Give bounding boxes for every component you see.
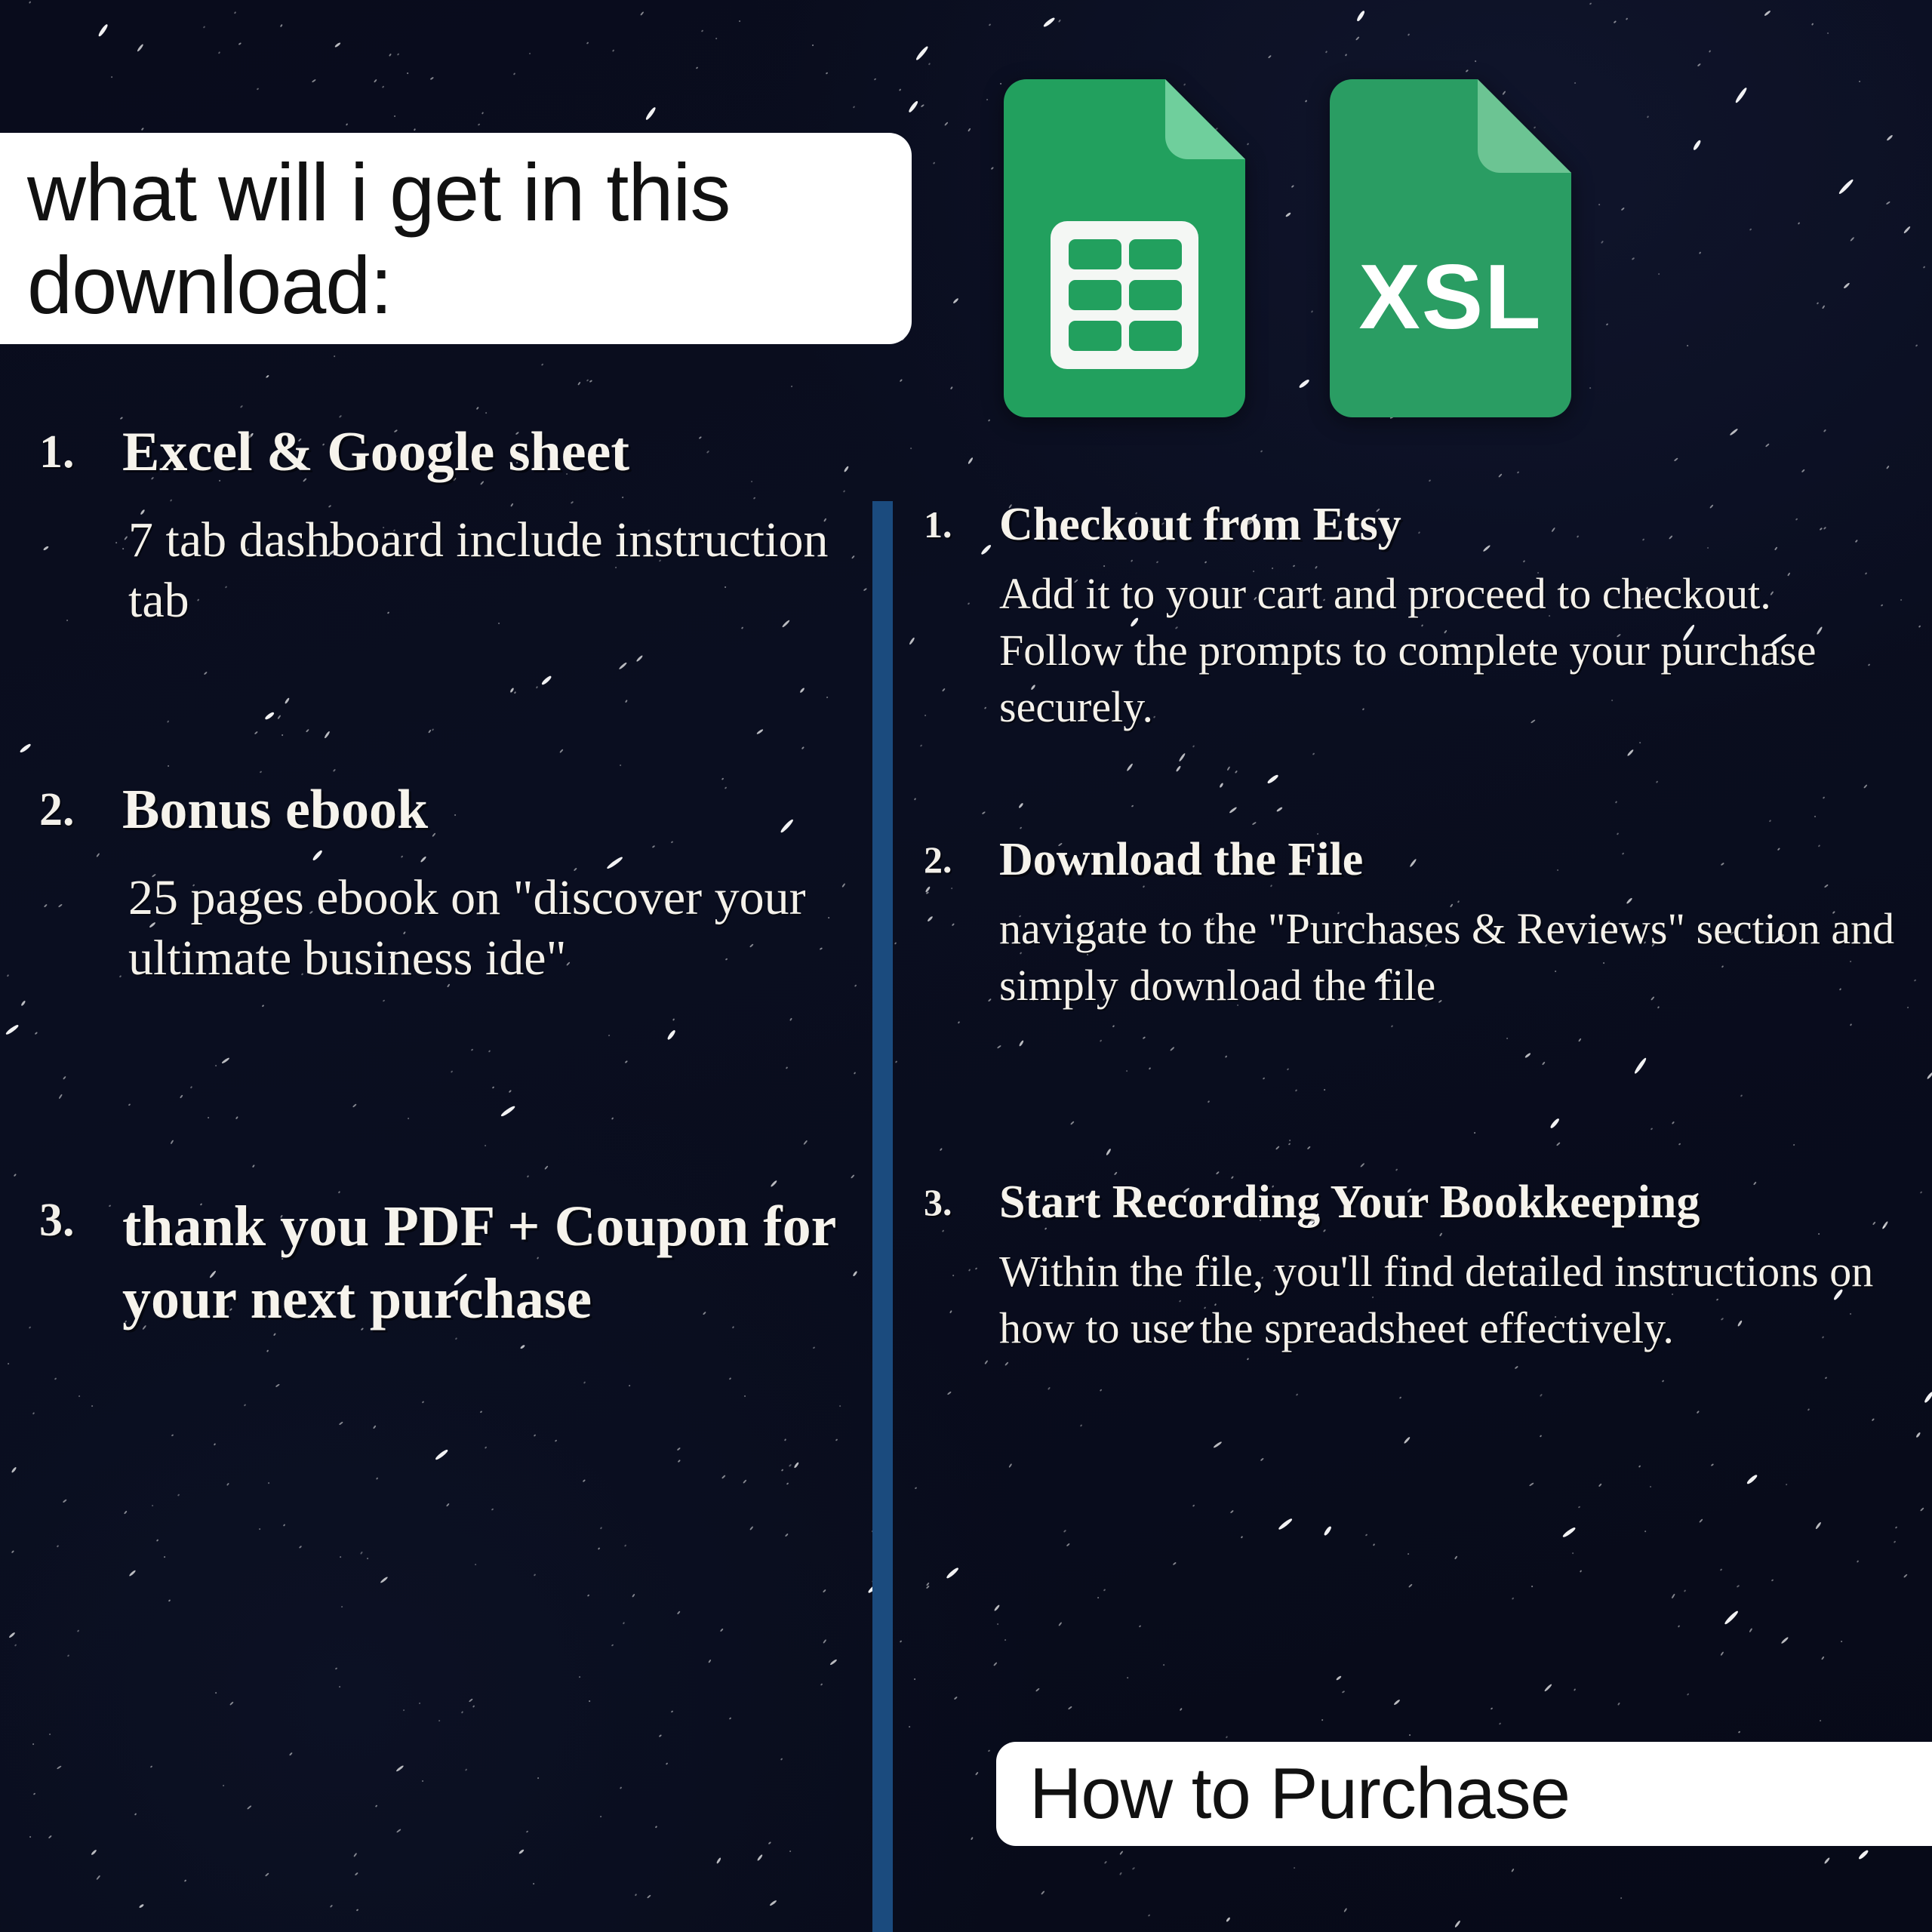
list-item-heading: Checkout from Etsy: [999, 498, 1897, 552]
list-item-heading: Bonus ebook: [122, 780, 854, 841]
list-item-heading: Download the File: [999, 833, 1897, 887]
right-steps: 1. Checkout from Etsy Add it to your car…: [924, 498, 1897, 1463]
title-card: what will i get in this download:: [0, 133, 912, 344]
list-item: 2. Download the File navigate to the "Pu…: [924, 833, 1897, 1135]
list-item-number: 2.: [39, 786, 75, 833]
list-item-heading: Start Recording Your Bookkeeping: [999, 1176, 1897, 1229]
list-item-number: 3.: [39, 1197, 75, 1244]
list-item-body: navigate to the "Purchases & Reviews" se…: [999, 900, 1897, 1014]
list-item-body: 25 pages ebook on "discover your ultimat…: [128, 868, 854, 989]
file-icon-group: XSL: [1004, 79, 1571, 417]
list-item: 3. thank you PDF + Coupon for your next …: [39, 1191, 854, 1440]
list-item-body: Add it to your cart and proceed to check…: [999, 565, 1897, 736]
list-item-body: Within the file, you'll find detailed in…: [999, 1243, 1897, 1357]
list-item-number: 1.: [39, 429, 75, 475]
how-to-purchase-list: 1. Checkout from Etsy Add it to your car…: [924, 498, 1897, 1503]
list-item: 3. Start Recording Your Bookkeeping With…: [924, 1176, 1897, 1463]
poster-canvas: what will i get in this download: XSL: [0, 0, 1932, 1932]
list-item: 1. Excel & Google sheet 7 tab dashboard …: [39, 423, 854, 724]
how-to-purchase-label: How to Purchase: [1029, 1758, 1570, 1830]
left-steps: 1. Excel & Google sheet 7 tab dashboard …: [39, 423, 854, 1440]
xsl-label: XSL: [1330, 244, 1571, 349]
xsl-file-icon: XSL: [1330, 79, 1571, 417]
page-title: what will i get in this download:: [27, 146, 869, 331]
google-sheets-icon-svg: [1004, 79, 1245, 417]
list-item: 1. Checkout from Etsy Add it to your car…: [924, 498, 1897, 792]
download-contents-list: 1. Excel & Google sheet 7 tab dashboard …: [39, 423, 854, 1496]
list-item-number: 1.: [924, 506, 952, 543]
list-item-number: 2.: [924, 841, 952, 878]
list-item-number: 3.: [924, 1183, 952, 1221]
list-item-body: 7 tab dashboard include instruction tab: [128, 510, 854, 632]
column-divider: [872, 501, 893, 1932]
list-item-heading: Excel & Google sheet: [122, 423, 854, 483]
list-item-heading: thank you PDF + Coupon for your next pur…: [122, 1191, 854, 1336]
how-to-purchase-card: How to Purchase: [996, 1742, 1932, 1846]
google-sheets-icon: [1004, 79, 1245, 417]
list-item: 2. Bonus ebook 25 pages ebook on "discov…: [39, 780, 854, 1135]
